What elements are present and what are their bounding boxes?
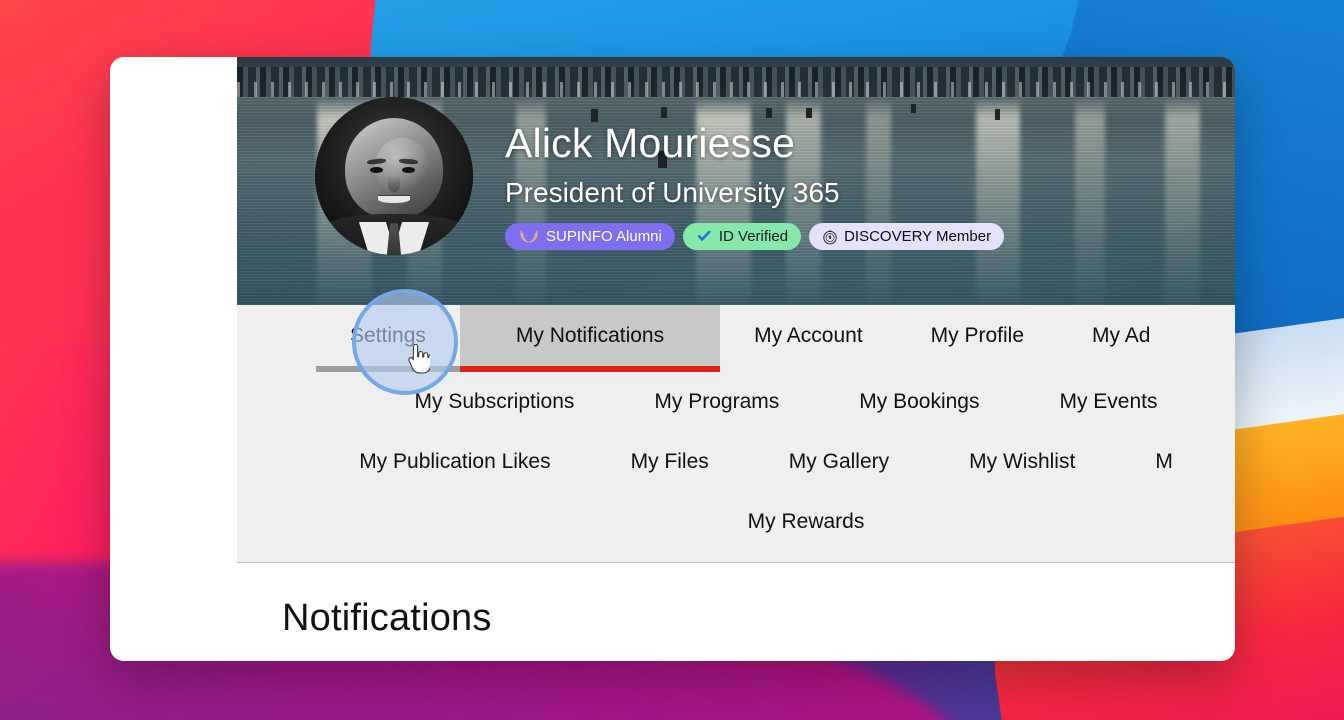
profile-cover-header: Alick Mouriesse President of University … (237, 57, 1235, 305)
tab-my-events[interactable]: My Events (1019, 372, 1197, 432)
laurel-wreath-icon (518, 229, 540, 244)
avatar[interactable] (315, 97, 473, 255)
left-gutter (110, 57, 237, 661)
tab-my-profile[interactable]: My Profile (897, 305, 1058, 372)
avatar-face-highlight (375, 138, 429, 195)
tab-row-2: My Subscriptions My Programs My Bookings… (237, 372, 1235, 432)
profile-tab-navigation: Settings My Notifications My Account My … (237, 305, 1235, 563)
tab-my-messages[interactable]: M (1115, 432, 1213, 492)
avatar-nose (388, 176, 399, 192)
tab-my-rewards[interactable]: My Rewards (708, 492, 905, 552)
tab-row-4: My Rewards (237, 492, 1235, 552)
badge-supinfo-alumni[interactable]: SUPINFO Alumni (505, 223, 675, 250)
avatar-mouth (378, 196, 410, 203)
browser-window: Alick Mouriesse President of University … (110, 57, 1235, 661)
avatar-eye-right (402, 167, 415, 173)
profile-role: President of University 365 (505, 177, 1004, 209)
badge-label: DISCOVERY Member (844, 229, 991, 244)
notifications-section: Notifications (237, 563, 1235, 640)
badge-discovery-member[interactable]: DISCOVERY Member (809, 223, 1004, 250)
tab-my-wishlist[interactable]: My Wishlist (929, 432, 1115, 492)
tab-my-files[interactable]: My Files (591, 432, 749, 492)
tab-row-1: Settings My Notifications My Account My … (237, 305, 1235, 372)
tab-my-notifications[interactable]: My Notifications (460, 305, 720, 372)
compass-icon (822, 229, 838, 245)
tab-my-account[interactable]: My Account (720, 305, 897, 372)
profile-identity-block: Alick Mouriesse President of University … (505, 122, 1004, 250)
tab-my-bookings[interactable]: My Bookings (819, 372, 1019, 432)
page-title: Notifications (282, 597, 1235, 640)
profile-badges: SUPINFO Alumni ID Verified (505, 223, 1004, 250)
tab-my-publication-likes[interactable]: My Publication Likes (319, 432, 590, 492)
avatar-photo (315, 97, 473, 255)
tab-my-advisors[interactable]: My Ad (1058, 305, 1184, 372)
tab-my-subscriptions[interactable]: My Subscriptions (375, 372, 615, 432)
tab-row-3: My Publication Likes My Files My Gallery… (237, 432, 1235, 492)
badge-label: SUPINFO Alumni (546, 229, 662, 244)
tab-settings[interactable]: Settings (316, 305, 460, 372)
profile-name: Alick Mouriesse (505, 122, 1004, 165)
badge-label: ID Verified (719, 229, 788, 244)
tab-my-programs[interactable]: My Programs (614, 372, 819, 432)
page-content-column: Alick Mouriesse President of University … (237, 57, 1235, 661)
blue-check-icon (696, 230, 713, 244)
tab-my-gallery[interactable]: My Gallery (749, 432, 929, 492)
badge-id-verified[interactable]: ID Verified (683, 223, 801, 250)
avatar-eye-left (370, 167, 383, 173)
window-body: Alick Mouriesse President of University … (110, 57, 1235, 661)
